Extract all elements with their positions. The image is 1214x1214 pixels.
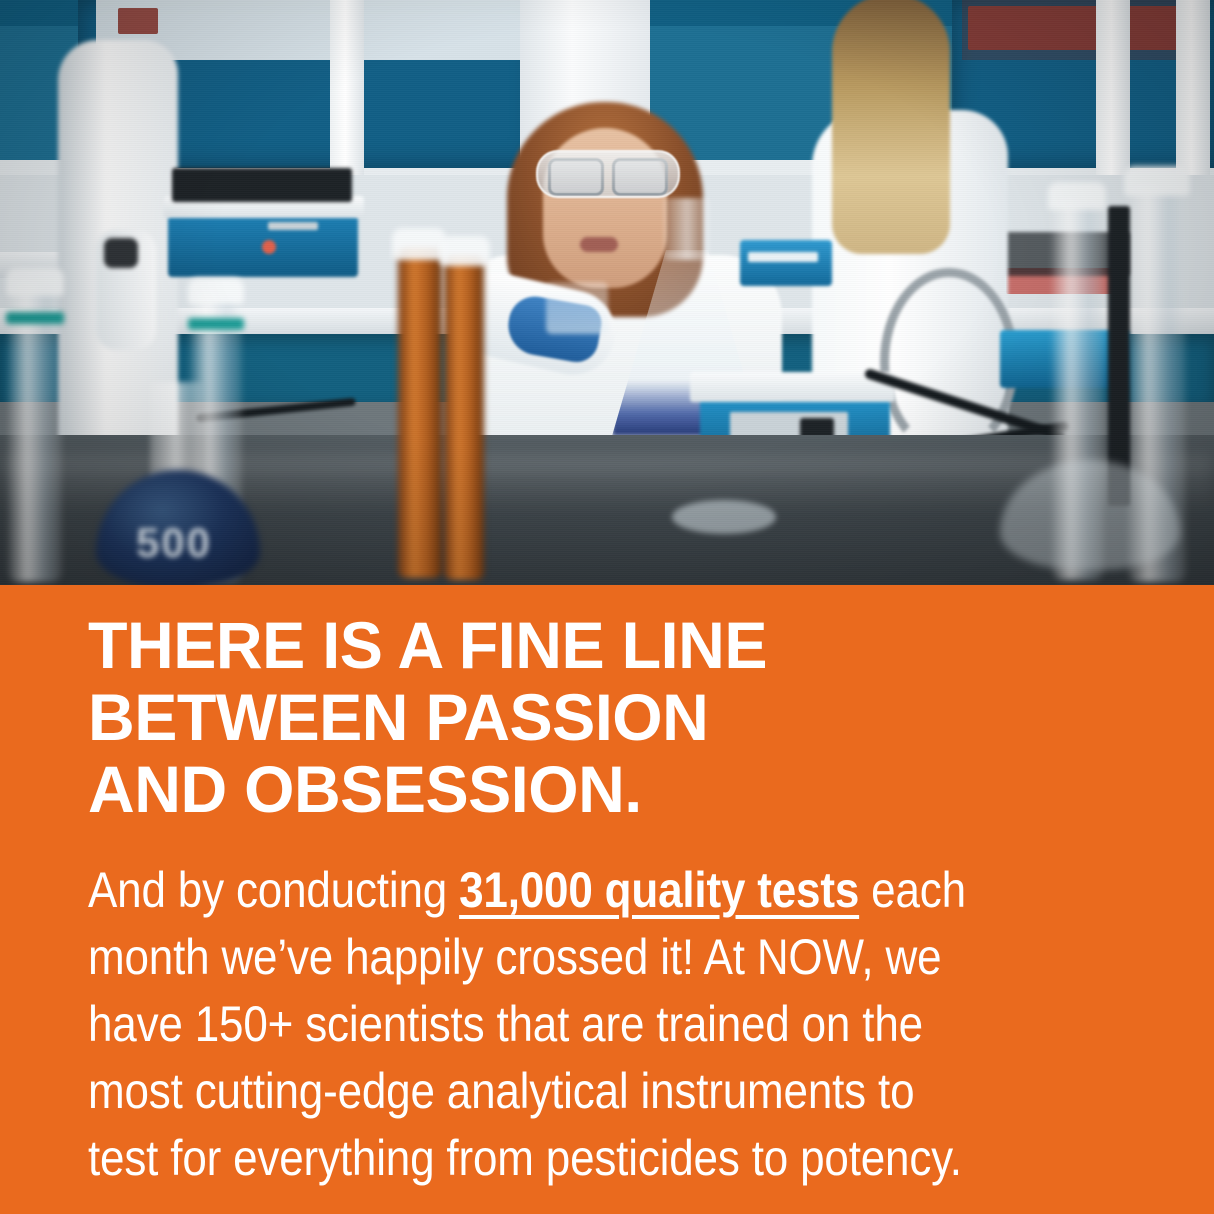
instrument-right-blue <box>740 240 832 286</box>
body-line-1-before: And by conducting <box>88 862 459 918</box>
instrument-left-indicator <box>262 240 276 254</box>
orange-message-panel: THERE IS A FINE LINE BETWEEN PASSION AND… <box>0 585 1214 1214</box>
amber-column-b <box>444 256 484 580</box>
sink-faucet-hose <box>880 268 1018 456</box>
lab-photo: 500 <box>0 0 1214 585</box>
glass-cylinder-right-a-cap <box>1048 182 1106 210</box>
scientist-center-mouth <box>580 237 618 252</box>
safety-goggles <box>536 150 680 198</box>
volumetric-flask-label: 500 <box>118 520 230 566</box>
volumetric-flask-neck <box>150 382 202 482</box>
scientist-right-hair <box>832 0 950 254</box>
scientist-left-device <box>104 238 138 268</box>
amber-column-a <box>398 248 442 578</box>
body-copy: And by conducting 31,000 quality tests e… <box>88 857 1012 1192</box>
instrument-right-label <box>748 252 818 262</box>
small-beaker <box>546 282 608 334</box>
headline-line-3: AND OBSESSION. <box>88 753 1127 825</box>
body-line-5: test for everything from pesticides to p… <box>88 1125 1012 1192</box>
body-line-2: month we’ve happily crossed it! At NOW, … <box>88 924 1012 991</box>
page-title: THERE IS A FINE LINE BETWEEN PASSION AND… <box>88 609 1127 825</box>
amber-column-a-cap <box>392 228 446 260</box>
body-line-1-after: each <box>859 862 966 918</box>
rack-post-right <box>1108 206 1130 506</box>
body-line-4: most cutting-edge analytical instruments… <box>88 1058 1012 1125</box>
glass-cylinder-left <box>8 282 62 582</box>
body-line-1: And by conducting 31,000 quality tests e… <box>88 857 1012 924</box>
lab-photo-layers: 500 <box>0 0 1214 585</box>
cabinet-divider-b <box>1096 0 1130 175</box>
glass-cylinder-left-b-cap <box>188 278 244 304</box>
glass-cylinder-left-cap <box>6 268 64 296</box>
cabinet-right-bins <box>968 6 1198 50</box>
instrument-left-rack <box>172 168 352 202</box>
emphasized-stat: 31,000 quality tests <box>459 862 859 918</box>
instrument-center-top <box>690 372 895 402</box>
cabinet-left-marker <box>118 8 158 34</box>
amber-column-b-cap <box>440 236 490 266</box>
cabinet-divider-a <box>330 0 364 175</box>
cabinet-divider-c <box>1176 0 1210 175</box>
glass-cylinder-left-band <box>6 312 64 324</box>
instrument-left-display <box>268 222 318 230</box>
glass-cylinder-right-b-cap <box>1124 166 1190 196</box>
headline-line-1: THERE IS A FINE LINE <box>88 609 1127 681</box>
headline-line-2: BETWEEN PASSION <box>88 681 1127 753</box>
countertop-dish <box>672 500 776 534</box>
glass-cylinder-left-b-band <box>188 318 244 330</box>
body-line-3: have 150+ scientists that are trained on… <box>88 991 1012 1058</box>
promo-card: 500 THERE IS A FINE LINE BETWEEN PASSION… <box>0 0 1214 1214</box>
